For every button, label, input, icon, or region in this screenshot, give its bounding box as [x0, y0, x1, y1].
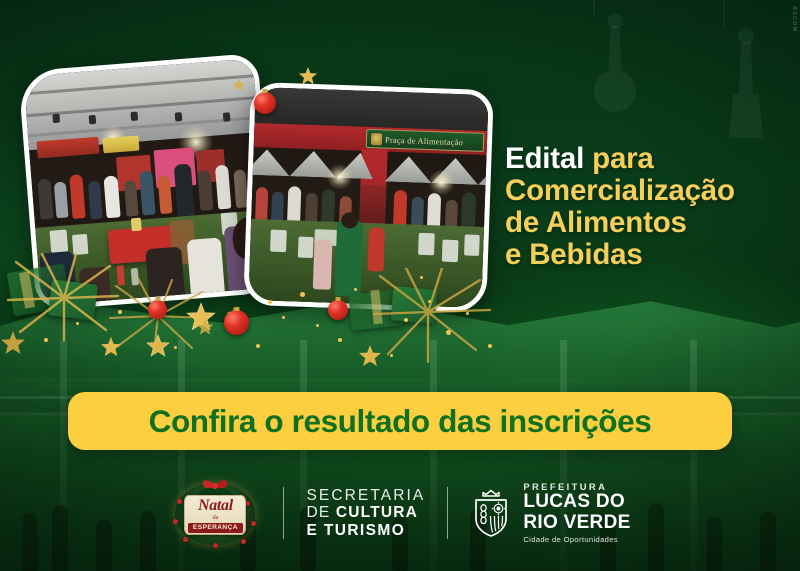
- hanging-utensils-group: [520, 0, 800, 135]
- prefeitura-lucas-do-rio-verde-logo: PREFEITURA LUCAS DO RIO VERDE Cidade de …: [470, 482, 630, 543]
- prefeitura-text-block: PREFEITURA LUCAS DO RIO VERDE Cidade de …: [523, 482, 630, 543]
- secretaria-line-1: SECRETARIA: [306, 487, 425, 504]
- natal-da-esperanca-logo: Natal da ESPERANÇA: [169, 475, 261, 551]
- sign-crest-icon: [371, 133, 382, 145]
- praca-alimentacao-photo: Praça de Alimentação: [243, 82, 494, 313]
- headline-edital: Edital: [505, 142, 584, 175]
- photo-credit: ASCOM: [791, 6, 797, 32]
- cta-label: Confira o resultado das inscrições: [149, 403, 652, 440]
- natal-plaque: Natal da ESPERANÇA: [184, 495, 246, 535]
- headline-line-4: e Bebidas: [505, 240, 795, 270]
- secretaria-line-3: E TURISMO: [306, 522, 425, 539]
- headline-line-2: Comercialização: [505, 176, 795, 206]
- esperanca-word: ESPERANÇA: [188, 523, 243, 533]
- secretaria-de: DE: [306, 504, 335, 521]
- sign-text: Praça de Alimentação: [385, 134, 463, 147]
- secretaria-line-2: DE CULTURA: [306, 504, 425, 521]
- footer-logo-strip: Natal da ESPERANÇA SECRETARIA DE CULTURA…: [0, 455, 800, 571]
- footer-divider: [283, 487, 284, 539]
- headline-line-1: Edital para: [505, 144, 795, 174]
- prefeitura-tagline: Cidade de Oportunidades: [523, 536, 630, 544]
- food-court-crowd-photo: [18, 53, 276, 311]
- headline-para: para: [592, 142, 654, 175]
- footer-divider: [447, 487, 448, 539]
- natal-da-word: da: [213, 515, 219, 521]
- prefeitura-line-2: RIO VERDE: [523, 513, 630, 534]
- secretaria-cultura-turismo-logo: SECRETARIA DE CULTURA E TURISMO: [306, 487, 425, 539]
- headline-line-3: de Alimentos: [505, 208, 795, 238]
- coat-of-arms-shield-icon: [470, 487, 512, 539]
- red-bow-icon: [200, 477, 230, 495]
- poster-canvas: Praça de Alimentação: [0, 0, 800, 571]
- praca-alimentacao-sign: Praça de Alimentação: [366, 129, 485, 152]
- secretaria-cultura: CULTURA: [336, 504, 418, 521]
- natal-word: Natal: [198, 498, 233, 514]
- prefeitura-line-1: LUCAS DO: [523, 492, 630, 513]
- resultado-cta-banner[interactable]: Confira o resultado das inscrições: [68, 392, 732, 450]
- headline-block: Edital para Comercialização de Alimentos…: [505, 144, 795, 272]
